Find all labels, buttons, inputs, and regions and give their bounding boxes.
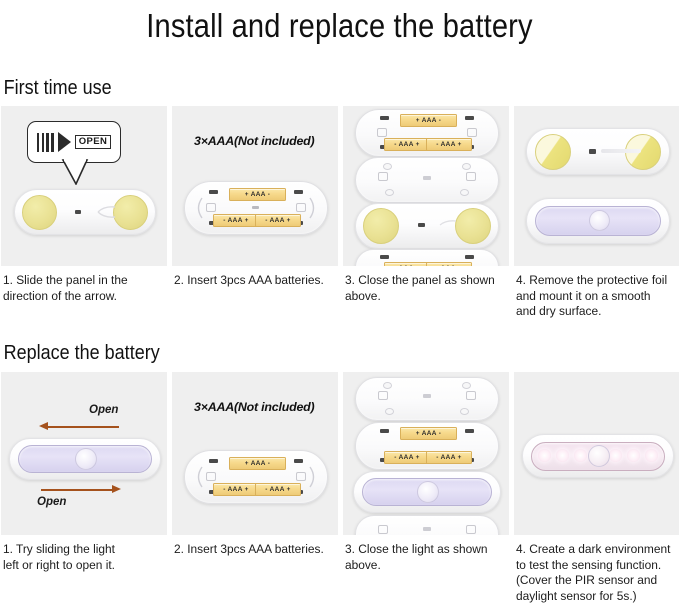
battery-bottom-left: - AAA + — [213, 483, 259, 496]
battery-tray-illustration: 3×AAA(Not included) — [172, 372, 338, 535]
stack-cover-partial — [355, 515, 499, 535]
step-caption-1-3: 3. Close the panel as shown above. — [343, 266, 504, 304]
led-7 — [627, 449, 640, 462]
pir-sensor — [589, 210, 610, 231]
peel-foil-illustration — [514, 106, 679, 266]
arrow-right-head-icon — [112, 485, 121, 493]
panel-row-replace-battery: Open Open 1. Try sliding the light left … — [0, 372, 679, 604]
step-cell-2-1: Open Open 1. Try sliding the light left … — [1, 372, 167, 604]
section-heading-replace-battery: Replace the battery — [0, 341, 611, 365]
slide-panel-illustration: OPEN — [1, 106, 167, 266]
device-back-with-foil — [526, 128, 670, 175]
arrow-right-line — [41, 489, 113, 491]
slide-groove-icon — [95, 203, 121, 221]
battery-bottom-right: - AAA + — [255, 483, 301, 496]
led-2 — [556, 449, 569, 462]
step-cell-1-4: 4. Remove the protective foil and mount … — [514, 106, 679, 320]
page-title: Install and replace the battery — [41, 4, 639, 48]
step-caption-1-2: 2. Insert 3pcs AAA batteries. — [172, 266, 333, 289]
panel-row-first-time-use: OPEN — [0, 106, 679, 320]
latch-mark — [75, 210, 81, 214]
open-callout-bubble: OPEN — [27, 121, 121, 163]
stack-tray-with-batteries: + AAA - - AAA + - AAA + — [355, 109, 499, 157]
arrow-triangle-icon — [58, 132, 71, 152]
arrow-left-line — [47, 426, 119, 428]
led-8 — [645, 449, 658, 462]
step-caption-2-4: 4. Create a dark environment to test the… — [514, 535, 675, 604]
brand-mark — [601, 149, 641, 153]
bubble-tail-icon — [61, 159, 89, 185]
pir-sensor — [75, 448, 97, 470]
protective-foil-left — [535, 134, 571, 170]
stack-battery-bottom-left: - AAA + — [384, 451, 430, 464]
stack-tray-with-batteries: + AAA - - AAA + - AAA + — [355, 422, 499, 470]
led-1 — [538, 449, 551, 462]
device-back-panel — [14, 189, 156, 235]
step-caption-1-1: 1. Slide the panel in the direction of t… — [1, 266, 162, 304]
pir-sensor — [417, 481, 439, 503]
spring-right-icon — [307, 196, 319, 220]
stack-light-device — [353, 471, 501, 513]
spring-right-icon — [307, 465, 319, 489]
slide-light-illustration: Open Open — [1, 372, 167, 535]
step-caption-2-1: 1. Try sliding the light left or right t… — [1, 535, 162, 573]
battery-top: + AAA - — [229, 457, 286, 470]
section-first-time-use: First time use OPEN — [0, 76, 679, 320]
led-3 — [574, 449, 587, 462]
motion-stripes-icon — [37, 133, 54, 152]
battery-tray: + AAA - - AAA + - AAA + — [184, 450, 328, 504]
stack-battery-top: + AAA - — [400, 427, 457, 440]
arrow-left-head-icon — [39, 422, 48, 430]
led-6 — [609, 449, 622, 462]
stack-battery-bottom-left: - AAA + — [384, 138, 430, 151]
section-heading-first-time-use: First time use — [0, 76, 611, 100]
aaa-note-label: 3×AAA(Not included) — [194, 400, 314, 414]
battery-bottom-left: - AAA + — [213, 214, 259, 227]
stack-slide-groove-icon — [438, 217, 462, 233]
pir-sensor — [588, 445, 610, 467]
battery-tray-illustration: 3×AAA(Not included) — [172, 106, 338, 266]
stack-battery-bottom-right: - AAA + — [426, 138, 472, 151]
stack-battery-bottom-right: - AAA + — [426, 451, 472, 464]
lit-light-illustration — [514, 372, 679, 535]
open-label-top: Open — [89, 404, 118, 416]
stack-empty-cover — [355, 157, 499, 203]
light-device-closed — [9, 438, 161, 480]
stack-tray-partial: - AAA + - AAA + — [355, 249, 499, 266]
step-caption-1-4: 4. Remove the protective foil and mount … — [514, 266, 675, 320]
section-replace-battery: Replace the battery Open Open 1. Try sl — [0, 341, 679, 604]
close-panel-stack-illustration: + AAA - - AAA + - AAA + — [343, 106, 509, 266]
stack-adhesive-pad-left — [363, 208, 399, 244]
step-cell-2-2: 3×AAA(Not included) — [172, 372, 338, 604]
battery-tray: + AAA - - AAA + - AAA + — [184, 181, 328, 235]
stack-device-back — [355, 203, 499, 249]
spring-left-icon — [193, 465, 205, 489]
step-caption-2-3: 3. Close the light as shown above. — [343, 535, 504, 573]
step-cell-2-4: 4. Create a dark environment to test the… — [514, 372, 679, 604]
battery-bottom-right: - AAA + — [255, 214, 301, 227]
step-caption-2-2: 2. Insert 3pcs AAA batteries. — [172, 535, 333, 558]
close-light-stack-illustration: + AAA - - AAA + - AAA + — [343, 372, 509, 535]
light-device-illuminated — [522, 434, 674, 478]
stack-empty-cover-top — [355, 377, 499, 421]
step-cell-1-3: + AAA - - AAA + - AAA + — [343, 106, 509, 320]
open-label-bottom: Open — [37, 496, 66, 508]
spring-left-icon — [193, 196, 205, 220]
step-cell-1-2: 3×AAA(Not included) — [172, 106, 338, 320]
battery-top: + AAA - — [229, 188, 286, 201]
step-cell-1-1: OPEN — [1, 106, 167, 320]
instruction-sheet: Install and replace the battery First ti… — [0, 4, 679, 607]
aaa-note-label: 3×AAA(Not included) — [194, 134, 314, 148]
mounted-device — [526, 198, 670, 244]
stack-battery-top: + AAA - — [400, 114, 457, 127]
step-cell-2-3: + AAA - - AAA + - AAA + 3. Close — [343, 372, 509, 604]
adhesive-pad-left — [22, 195, 57, 230]
open-label: OPEN — [75, 135, 112, 149]
